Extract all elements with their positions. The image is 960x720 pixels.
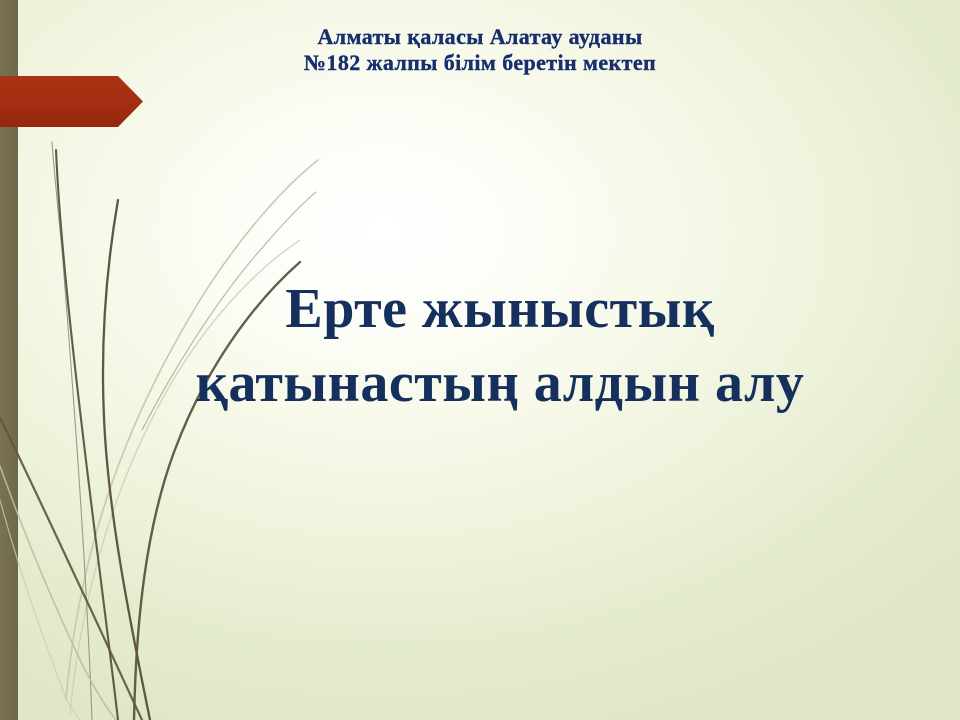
arrow-banner-svg: [0, 74, 145, 129]
grass-blade-pale-1: [66, 160, 318, 700]
school-name-header: Алматы қаласы Алатау ауданы №182 жалпы б…: [0, 24, 960, 76]
page-title: Ерте жыныстық қатынастың алдын алу: [100, 272, 900, 421]
right-pointing-arrow-banner: [0, 74, 145, 129]
presentation-slide: Алматы қаласы Алатау ауданы №182 жалпы б…: [0, 0, 960, 720]
arrow-shape: [0, 76, 143, 127]
header-line-district: Алматы қаласы Алатау ауданы: [0, 24, 960, 50]
grass-blade-thin-1: [52, 142, 92, 720]
title-line-2: қатынастың алдын алу: [100, 346, 900, 420]
grass-blade-dark-4: [0, 418, 142, 720]
title-line-1: Ерте жыныстық: [100, 272, 900, 346]
grass-blade-dark-1: [56, 150, 118, 720]
left-edge-olive-strip: [0, 0, 18, 720]
header-line-school: №182 жалпы білім беретін мектеп: [0, 50, 960, 76]
